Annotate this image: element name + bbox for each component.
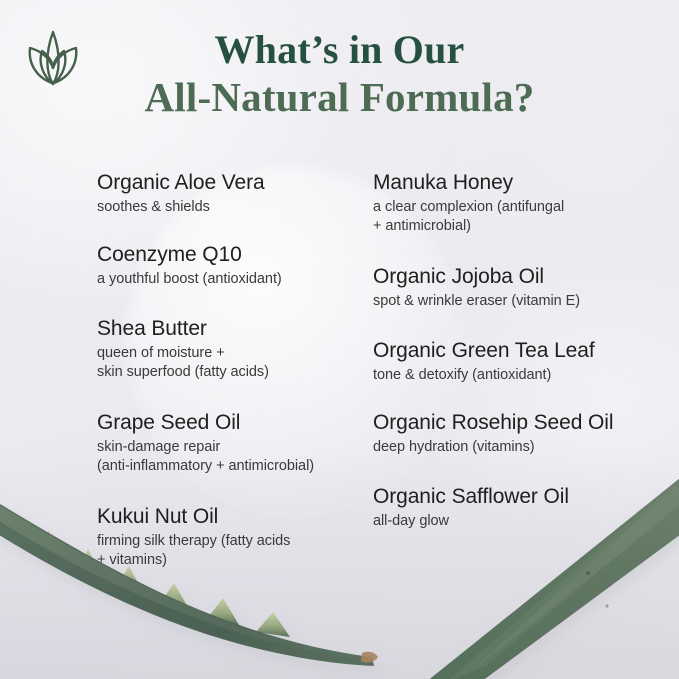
ingredient-item: Organic Aloe Verasoothes & shields [97, 171, 265, 217]
ingredient-description-line: queen of moisture + [97, 344, 269, 364]
ingredient-description-line: (anti-inflammatory + antimicrobial) [97, 457, 314, 477]
ingredient-poster: What’s in Our All-Natural Formula? Organ… [0, 0, 679, 679]
ingredient-description-line: a youthful boost (antioxidant) [97, 270, 282, 290]
ingredient-name: Coenzyme Q10 [97, 243, 282, 267]
ingredient-description-line: soothes & shields [97, 198, 265, 218]
ingredient-name: Organic Safflower Oil [373, 485, 569, 509]
ingredient-description: a clear complexion (antifungal+ antimicr… [373, 198, 564, 237]
ingredient-description: queen of moisture +skin superfood (fatty… [97, 344, 269, 383]
ingredient-name: Organic Jojoba Oil [373, 265, 580, 289]
ingredient-description-line: deep hydration (vitamins) [373, 438, 613, 458]
ingredient-description: a youthful boost (antioxidant) [97, 270, 282, 290]
ingredient-item: Manuka Honeya clear complexion (antifung… [373, 171, 564, 237]
ingredient-name: Organic Rosehip Seed Oil [373, 411, 613, 435]
ingredient-item: Organic Jojoba Oilspot & wrinkle eraser … [373, 265, 580, 311]
ingredient-description: spot & wrinkle eraser (vitamin E) [373, 292, 580, 312]
ingredient-item: Coenzyme Q10a youthful boost (antioxidan… [97, 243, 282, 289]
ingredient-description-line: spot & wrinkle eraser (vitamin E) [373, 292, 580, 312]
ingredient-item: Organic Safflower Oilall-day glow [373, 485, 569, 531]
ingredient-description: deep hydration (vitamins) [373, 438, 613, 458]
ingredient-description-line: a clear complexion (antifungal [373, 198, 564, 218]
ingredient-description: soothes & shields [97, 198, 265, 218]
ingredient-name: Kukui Nut Oil [97, 505, 290, 529]
ingredient-description: all-day glow [373, 512, 569, 532]
ingredient-description: firming silk therapy (fatty acids+ vitam… [97, 532, 290, 571]
ingredient-name: Shea Butter [97, 317, 269, 341]
ingredient-item: Organic Green Tea Leaftone & detoxify (a… [373, 339, 595, 385]
ingredient-description-line: skin superfood (fatty acids) [97, 363, 269, 383]
ingredient-item: Grape Seed Oilskin-damage repair(anti-in… [97, 411, 314, 477]
ingredient-name: Grape Seed Oil [97, 411, 314, 435]
ingredient-description-line: + vitamins) [97, 551, 290, 571]
ingredient-description-line: all-day glow [373, 512, 569, 532]
ingredient-item: Shea Butterqueen of moisture +skin super… [97, 317, 269, 383]
ingredient-name: Manuka Honey [373, 171, 564, 195]
ingredient-description-line: + antimicrobial) [373, 217, 564, 237]
ingredient-name: Organic Green Tea Leaf [373, 339, 595, 363]
ingredient-item: Organic Rosehip Seed Oildeep hydration (… [373, 411, 613, 457]
ingredient-name: Organic Aloe Vera [97, 171, 265, 195]
ingredient-description-line: skin-damage repair [97, 438, 314, 458]
ingredient-item: Kukui Nut Oilfirming silk therapy (fatty… [97, 505, 290, 571]
ingredient-description: skin-damage repair(anti-inflammatory + a… [97, 438, 314, 477]
ingredient-description-line: tone & detoxify (antioxidant) [373, 366, 595, 386]
ingredient-columns: Organic Aloe Verasoothes & shieldsCoenzy… [0, 0, 679, 679]
ingredient-description-line: firming silk therapy (fatty acids [97, 532, 290, 552]
ingredient-description: tone & detoxify (antioxidant) [373, 366, 595, 386]
